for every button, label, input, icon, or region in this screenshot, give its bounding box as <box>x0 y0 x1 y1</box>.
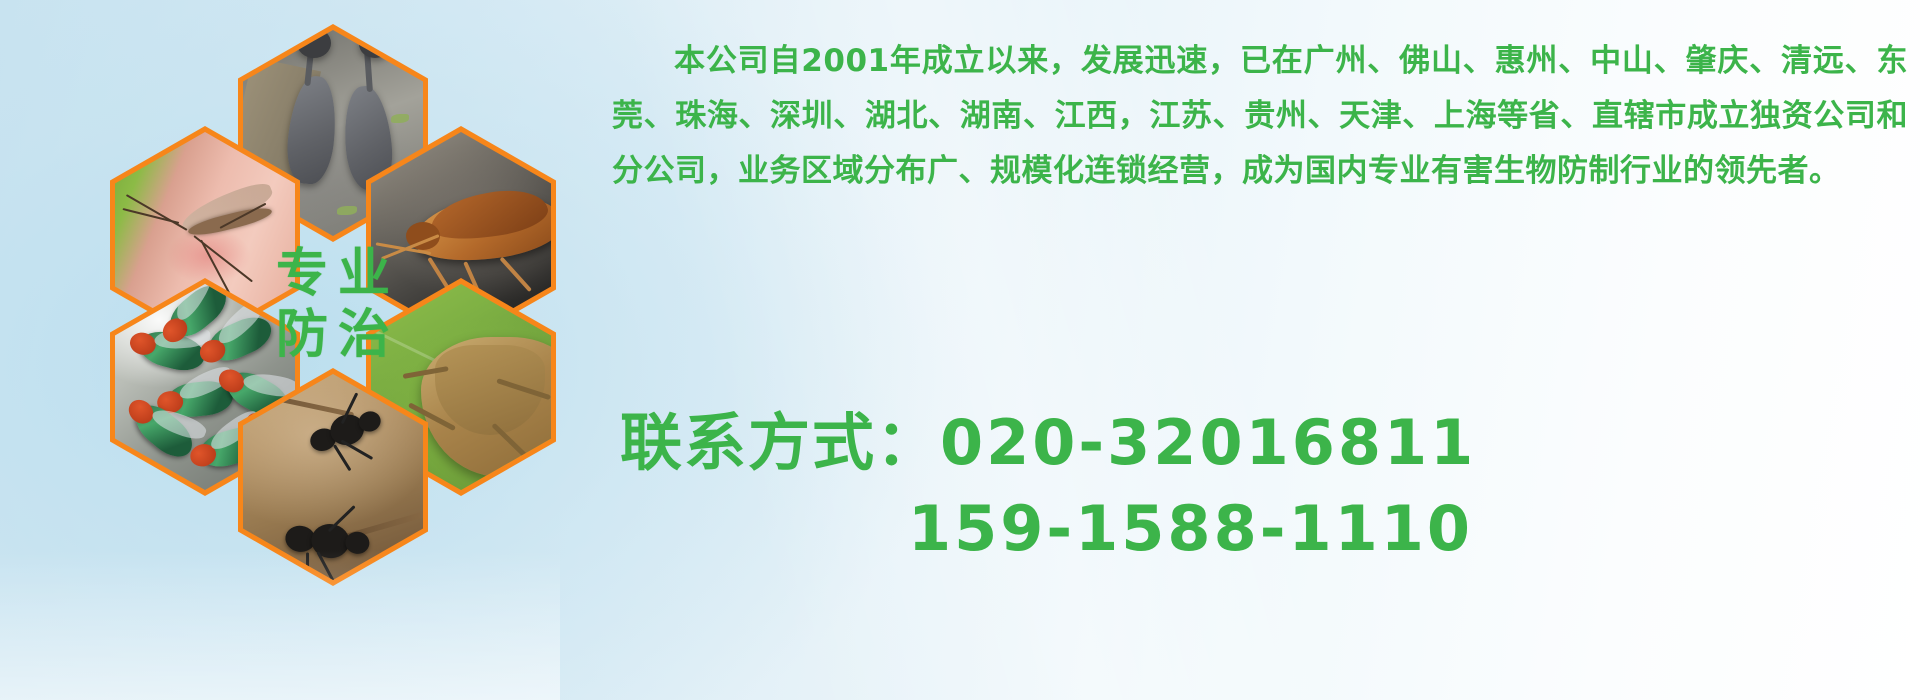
contact-phone-primary[interactable]: 020-32016811 <box>940 406 1476 479</box>
honeycomb-collage: 专业 防治 <box>88 0 588 580</box>
contact-label: 联系方式： <box>620 406 940 479</box>
contact-phone-secondary[interactable]: 159-1588-1110 <box>908 492 1473 565</box>
about-paragraph: 本公司自2001年成立以来，发展迅速，已在广州、佛山、惠州、中山、肇庆、清远、东… <box>612 34 1908 199</box>
slogan-line-1: 专业 <box>266 244 400 305</box>
contact-block: 联系方式：020-32016811 159-1588-1110 <box>620 400 1900 572</box>
pest-control-banner: 专业 防治 本公司自2001年成立以来，发展迅速，已在广州、佛山、惠州、中山、肇… <box>0 0 1920 700</box>
contact-line-primary: 联系方式：020-32016811 <box>620 400 1900 486</box>
about-paragraph-text: 本公司自2001年成立以来，发展迅速，已在广州、佛山、惠州、中山、肇庆、清远、东… <box>612 34 1908 199</box>
contact-line-secondary: 159-1588-1110 <box>620 486 1900 572</box>
slogan-line-2: 防治 <box>266 305 400 366</box>
